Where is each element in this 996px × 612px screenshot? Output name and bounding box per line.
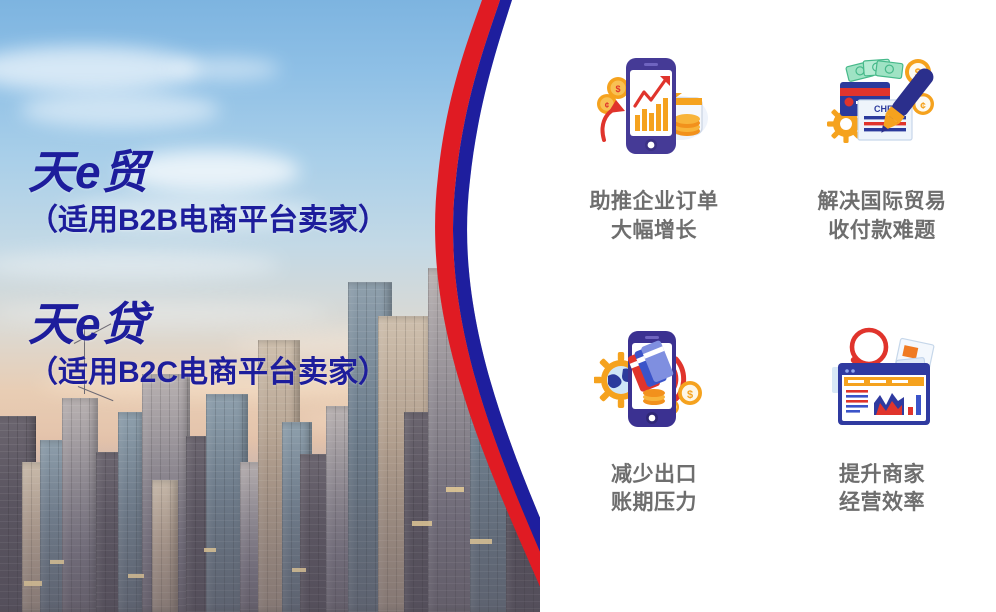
feature-caption-2-line2: 收付款难题: [818, 217, 947, 246]
feature-caption-2-line1: 解决国际贸易: [818, 188, 947, 217]
feature-item-4[interactable]: 提升商家 经营效率: [768, 307, 996, 580]
feature-caption-3-line2: 账期压力: [611, 489, 697, 518]
feature-caption-1: 助推企业订单 大幅增长: [590, 188, 719, 246]
feature-caption-4-line2: 经营效率: [839, 489, 925, 518]
feature-caption-3-line1: 减少出口: [611, 461, 697, 490]
feature-caption-4: 提升商家 经营效率: [839, 461, 925, 519]
brand-text-block: 天e贸 （适用B2B电商平台卖家） 天e贷 （适用B2C电商平台卖家）: [0, 0, 470, 612]
feature-grid: $ ¢: [540, 34, 996, 579]
feature-item-2[interactable]: $ ¢: [768, 34, 996, 307]
brand-title-1: 天e贸: [28, 148, 388, 198]
check-payment-pen-icon: $ ¢: [822, 52, 942, 160]
feature-caption-4-line1: 提升商家: [839, 461, 925, 490]
brand-subtitle-1: （适用B2B电商平台卖家）: [28, 204, 388, 239]
feature-panel: $ ¢: [540, 0, 996, 612]
mobile-card-payment-icon: $: [594, 325, 714, 433]
feature-item-3[interactable]: $: [540, 307, 768, 580]
mobile-chart-growth-icon: $ ¢: [594, 52, 714, 160]
feature-item-1[interactable]: $ ¢: [540, 34, 768, 307]
svg-text:¢: ¢: [605, 101, 610, 110]
feature-caption-1-line2: 大幅增长: [590, 217, 719, 246]
svg-text:¢: ¢: [920, 101, 926, 112]
brand-subtitle-2: （适用B2C电商平台卖家）: [28, 356, 388, 391]
svg-text:$: $: [687, 389, 693, 401]
svg-text:$: $: [615, 84, 620, 94]
brand-group-b2b: 天e贸 （适用B2B电商平台卖家）: [28, 148, 388, 238]
brand-title-2: 天e贷: [28, 300, 388, 350]
brand-group-b2c: 天e贷 （适用B2C电商平台卖家）: [28, 300, 388, 390]
feature-caption-3: 减少出口 账期压力: [611, 461, 697, 519]
feature-caption-1-line1: 助推企业订单: [590, 188, 719, 217]
feature-caption-2: 解决国际贸易 收付款难题: [818, 188, 947, 246]
dashboard-analytics-icon: [822, 325, 942, 433]
promo-banner: 天e贸 （适用B2B电商平台卖家） 天e贷 （适用B2C电商平台卖家）: [0, 0, 996, 612]
